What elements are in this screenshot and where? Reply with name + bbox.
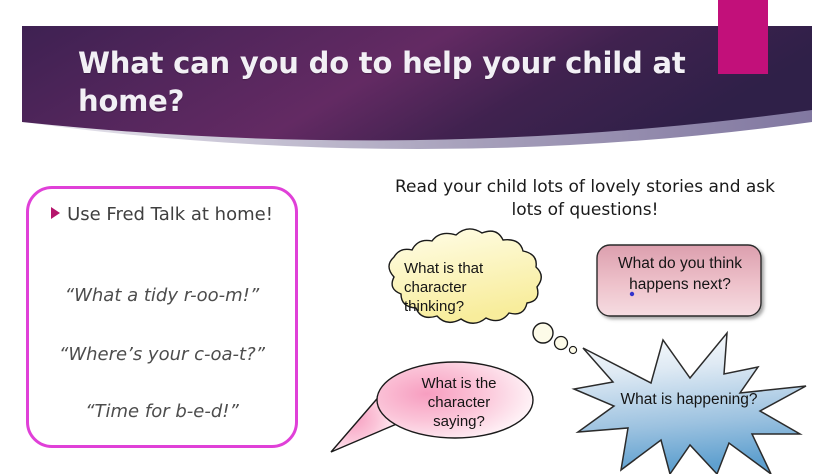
happens-next-label: What do you think happens next?	[600, 253, 760, 295]
thought-cloud-label: What is that character thinking?	[404, 259, 524, 316]
speech-oval-label: What is the character saying?	[404, 374, 514, 431]
star-burst-label: What is happening?	[604, 390, 774, 409]
thought-trail-dot-large	[533, 323, 553, 343]
thought-trail-dot-medium	[555, 337, 568, 350]
thought-trail-dot-small	[569, 346, 576, 353]
